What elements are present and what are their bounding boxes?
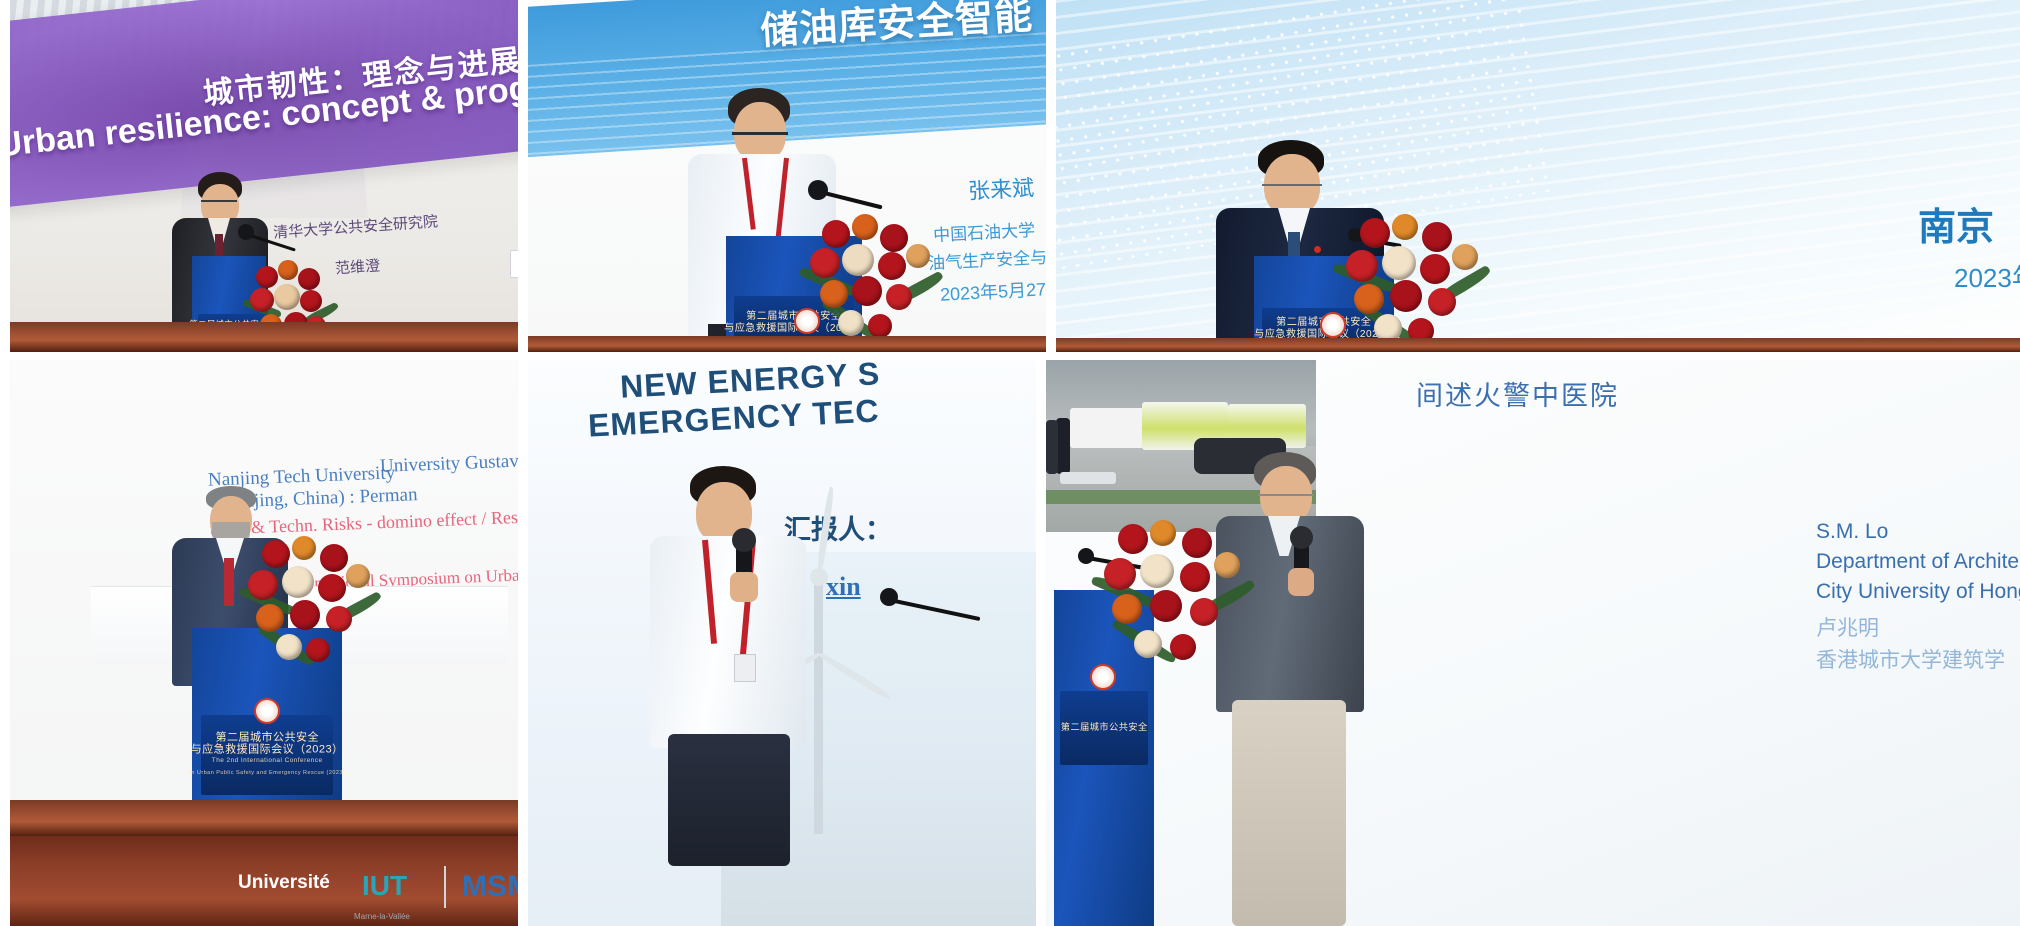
logo-iut-sub: Marne-la-Vallée (354, 912, 410, 921)
microphone-head (880, 588, 898, 606)
trousers (1232, 700, 1346, 926)
responder-1 (1056, 418, 1070, 474)
hand (730, 572, 758, 602)
slide-date-cn: 2023年5月27 (939, 275, 1046, 307)
panel-nanjing-keynote[interactable]: 蒋 南京 南京 2023年5 第二届城市公共安全 与应急救援国际会议（2023） (1056, 0, 2020, 352)
van-white (1070, 408, 1144, 448)
hand (1288, 568, 1314, 596)
podium-seal (254, 698, 280, 724)
stage-edge (528, 336, 1046, 352)
microphone-head (1078, 548, 1094, 564)
flower-bouquet (1344, 214, 1488, 352)
flower-bouquet (248, 536, 378, 678)
slide-placeholder-box (510, 250, 518, 278)
podium-seal (1320, 312, 1346, 338)
slide-speaker-cn: 范维澄 (334, 254, 380, 278)
panel-oil-depot-safety[interactable]: 储油库安全智能 张来斌 中国石油大学（ 油气生产安全与 2023年5月27 第二… (528, 0, 1046, 352)
microphone-head (808, 180, 828, 200)
slide-org-cn: 南京 (1918, 196, 1994, 251)
slide-speaker-en: S.M. Lo (1816, 520, 1888, 544)
podium-sign: 第二届城市公共安全 (1060, 691, 1148, 765)
panel-new-energy-emergency[interactable]: NEW ENERGY S EMERGENCY TEC 汇报人： E-mail: … (528, 360, 1036, 926)
slide-org-en: City University of Hong (1816, 580, 2020, 604)
stage-edge (1056, 338, 2020, 352)
stage-edge (10, 800, 518, 836)
logo-msm: MSM (462, 870, 518, 904)
trousers (668, 734, 790, 866)
speaker-person (650, 466, 808, 866)
microphone-head (238, 224, 254, 240)
panel-urban-resilience[interactable]: 城市韧性：理念与进展 Urban resilience: concept & p… (10, 0, 518, 352)
stage-edge (10, 322, 518, 352)
flower-bouquet (1102, 520, 1252, 680)
slide-email-value: xin (826, 572, 861, 602)
logo-universite: Université (238, 872, 330, 894)
lapel-pin (1314, 246, 1321, 253)
stretcher (1060, 472, 1116, 484)
slide-date-cn: 2023年5 (1954, 258, 2020, 295)
wind-turbine-pole (814, 574, 823, 834)
panel-sm-lo-hospital-evacuation[interactable]: 间述火警中医院 S.M. Lo Department of Architec C… (1046, 360, 2020, 926)
logo-divider (444, 866, 446, 908)
flower-bouquet (808, 214, 938, 352)
necktie (224, 558, 234, 606)
logo-iut: IUT (362, 870, 407, 902)
handheld-microphone-head (1290, 526, 1313, 549)
photo-collage: 城市韧性：理念与进展 Urban resilience: concept & p… (0, 0, 2020, 926)
slide-speaker-cn: 卢兆明 (1816, 612, 1879, 642)
badge (734, 654, 756, 682)
responder-2 (1046, 420, 1058, 474)
slide-dept-en: Department of Architec (1816, 550, 2020, 574)
slide-org-cn: 香港城市大学建筑学 (1816, 644, 2005, 674)
slide-speaker-cn: 张来斌 (967, 170, 1035, 205)
slide-heading-cn: 间述火警中医院 (1416, 374, 1619, 413)
handheld-microphone-head (732, 528, 756, 552)
podium-sign: 第二届城市公共安全 与应急救援国际会议（2023） The 2nd Intern… (201, 715, 333, 795)
panel-nanjing-tech-eiffel[interactable]: Nanjing Tech University University Gusta… (10, 360, 518, 926)
